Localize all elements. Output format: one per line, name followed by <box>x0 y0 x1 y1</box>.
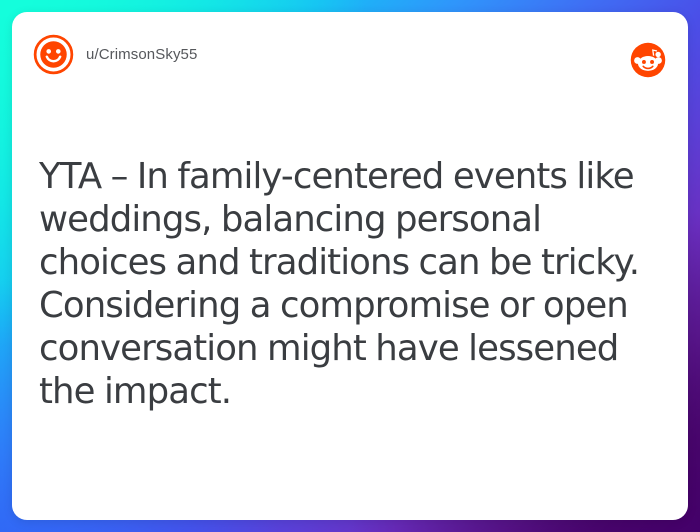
smiley-face-avatar-icon <box>33 34 74 75</box>
reddit-logo-icon[interactable] <box>630 42 666 78</box>
post-body: YTA – In family-centered events like wed… <box>39 155 661 413</box>
post-author[interactable]: u/CrimsonSky55 <box>33 34 197 75</box>
post-card: u/CrimsonSky55 YTA – In family-centered … <box>12 12 688 520</box>
post-text: YTA – In family-centered events like wed… <box>39 155 661 413</box>
post-card-header: u/CrimsonSky55 <box>12 12 688 98</box>
post-author-name: u/CrimsonSky55 <box>86 46 197 63</box>
